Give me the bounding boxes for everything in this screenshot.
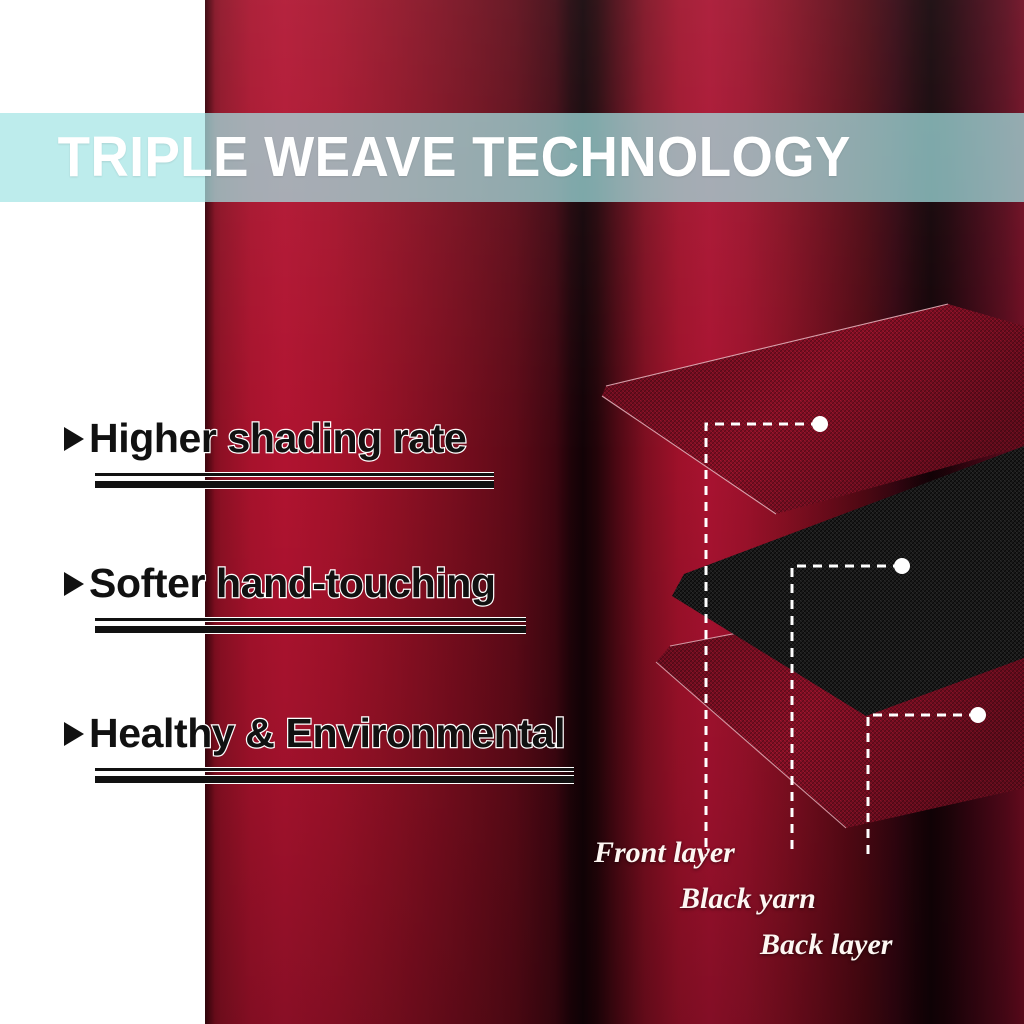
- callout-label-black-yarn: Black yarn: [680, 884, 816, 914]
- feature-line: Healthy & Environmental: [64, 713, 574, 754]
- feature-underline: [95, 767, 574, 784]
- callout-label-front-layer: Front layer: [594, 838, 735, 868]
- underline-thin-rule: [95, 767, 574, 772]
- triangle-right-icon: [64, 427, 84, 451]
- feature-item-higher-shading-rate: Higher shading rate: [64, 418, 494, 489]
- underline-thick-rule: [95, 625, 526, 634]
- feature-label: Healthy & Environmental: [89, 713, 565, 754]
- feature-item-softer-hand-touching: Softer hand-touching: [64, 563, 526, 634]
- callout-dot-front-layer: [812, 416, 828, 432]
- feature-label: Softer hand-touching: [89, 563, 496, 604]
- feature-line: Higher shading rate: [64, 418, 494, 459]
- underline-thin-rule: [95, 617, 526, 622]
- triple-weave-exploded-diagram: [596, 296, 1024, 856]
- headline-title: TRIPLE WEAVE TECHNOLOGY: [0, 129, 851, 186]
- headline-banner: TRIPLE WEAVE TECHNOLOGY: [0, 113, 1024, 202]
- feature-item-healthy-environmental: Healthy & Environmental: [64, 713, 574, 784]
- callout-dot-back-layer: [970, 707, 986, 723]
- feature-line: Softer hand-touching: [64, 563, 526, 604]
- feature-underline: [95, 617, 526, 634]
- underline-thin-rule: [95, 472, 494, 477]
- feature-underline: [95, 472, 494, 489]
- callout-dot-black-yarn: [894, 558, 910, 574]
- triangle-right-icon: [64, 722, 84, 746]
- triangle-right-icon: [64, 572, 84, 596]
- feature-label: Higher shading rate: [89, 418, 466, 459]
- callout-label-back-layer: Back layer: [760, 930, 892, 960]
- underline-thick-rule: [95, 775, 574, 784]
- product-infographic: TRIPLE WEAVE TECHNOLOGY Higher shading r…: [0, 0, 1024, 1024]
- underline-thick-rule: [95, 480, 494, 489]
